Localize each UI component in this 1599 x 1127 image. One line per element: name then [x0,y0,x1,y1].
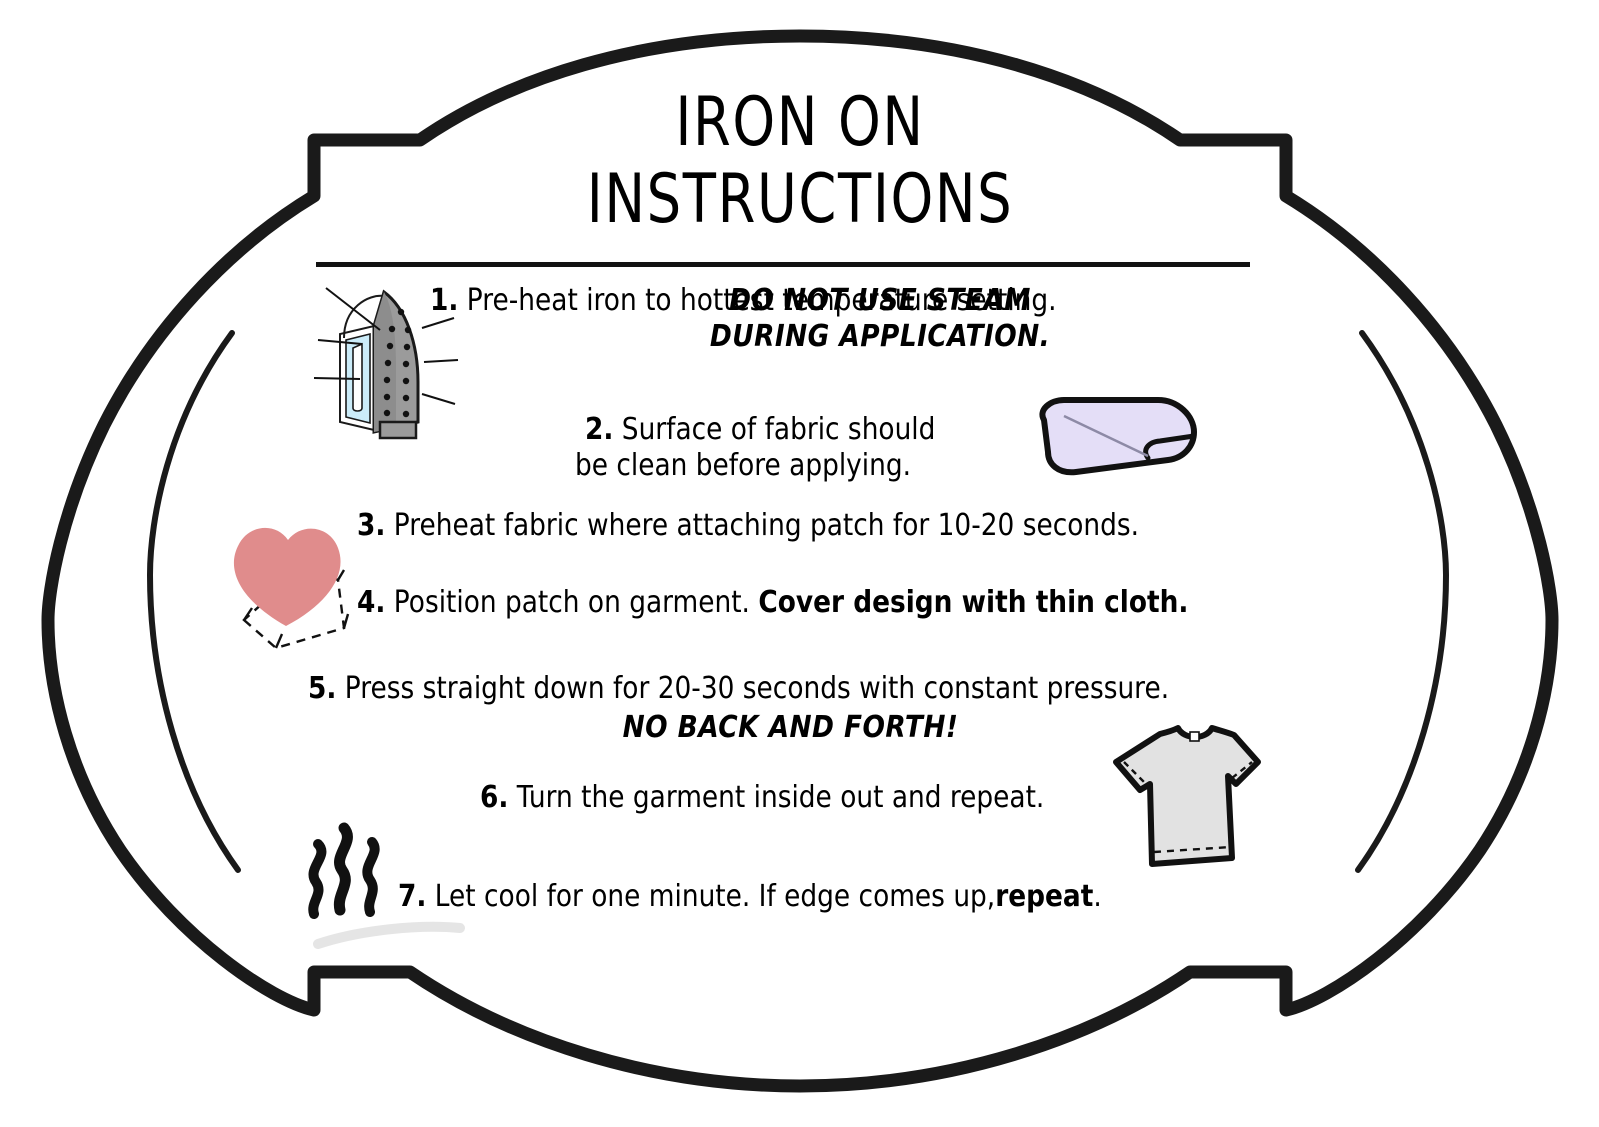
step-1-emphasis: DO NOT USE STEAM DURING APPLICATION. [502,283,1259,355]
step-2-text-line-1: 2. Surface of fabric should [585,412,935,448]
step-6-text: 6. Turn the garment inside out and repea… [480,780,1044,816]
step-7-bold: repeat [995,879,1093,914]
step-4-bold: Cover design with thin cloth. [758,585,1188,620]
step-5-body: Press straight down for 20-30 seconds wi… [345,671,1169,706]
iron-on-instructions-page: IRON ON INSTRUCTIONS [0,0,1599,1127]
step-2-body-2: be clean before applying. [575,448,911,483]
step-7-body-before: Let cool for one minute. If edge comes u… [435,879,995,914]
step-3-number: 3. [357,508,385,543]
step-6-body: Turn the garment inside out and repeat. [517,780,1045,815]
step-7-number: 7. [398,879,426,914]
step-4-number: 4. [357,585,385,620]
page-title: IRON ON INSTRUCTIONS [300,88,1300,235]
step-5-number: 5. [308,671,336,706]
heart-patch-icon [218,508,368,653]
step-2-body-1: Surface of fabric should [622,412,936,447]
folded-towel-icon [1008,386,1208,486]
step-2-number: 2. [585,412,613,447]
step-3-body: Preheat fabric where attaching patch for… [394,508,1139,543]
step-4-text: 4. Position patch on garment. Cover desi… [357,585,1188,621]
step-1-number: 1. [430,283,458,318]
step-1-emphasis-line-2: DURING APPLICATION. [502,319,1259,355]
step-3-text: 3. Preheat fabric where attaching patch … [357,508,1139,544]
title-line-1: IRON ON [400,88,1200,157]
title-divider [316,262,1250,267]
step-5-text: 5. Press straight down for 20-30 seconds… [308,671,1169,707]
step-2-text-line-2: be clean before applying. [575,448,911,484]
step-5-emphasis-line-1: NO BACK AND FORTH! [366,710,1215,746]
step-4-body: Position patch on garment. [394,585,750,620]
tshirt-icon [1106,718,1266,873]
title-line-2: INSTRUCTIONS [400,165,1200,234]
step-1-emphasis-line-1: DO NOT USE STEAM [502,283,1259,319]
step-5-emphasis: NO BACK AND FORTH! [366,710,1215,746]
step-7-text: 7. Let cool for one minute. If edge come… [398,879,1102,915]
steam-wave-icon [300,818,390,923]
step-7-body-after: . [1093,879,1101,914]
step-6-number: 6. [480,780,508,815]
